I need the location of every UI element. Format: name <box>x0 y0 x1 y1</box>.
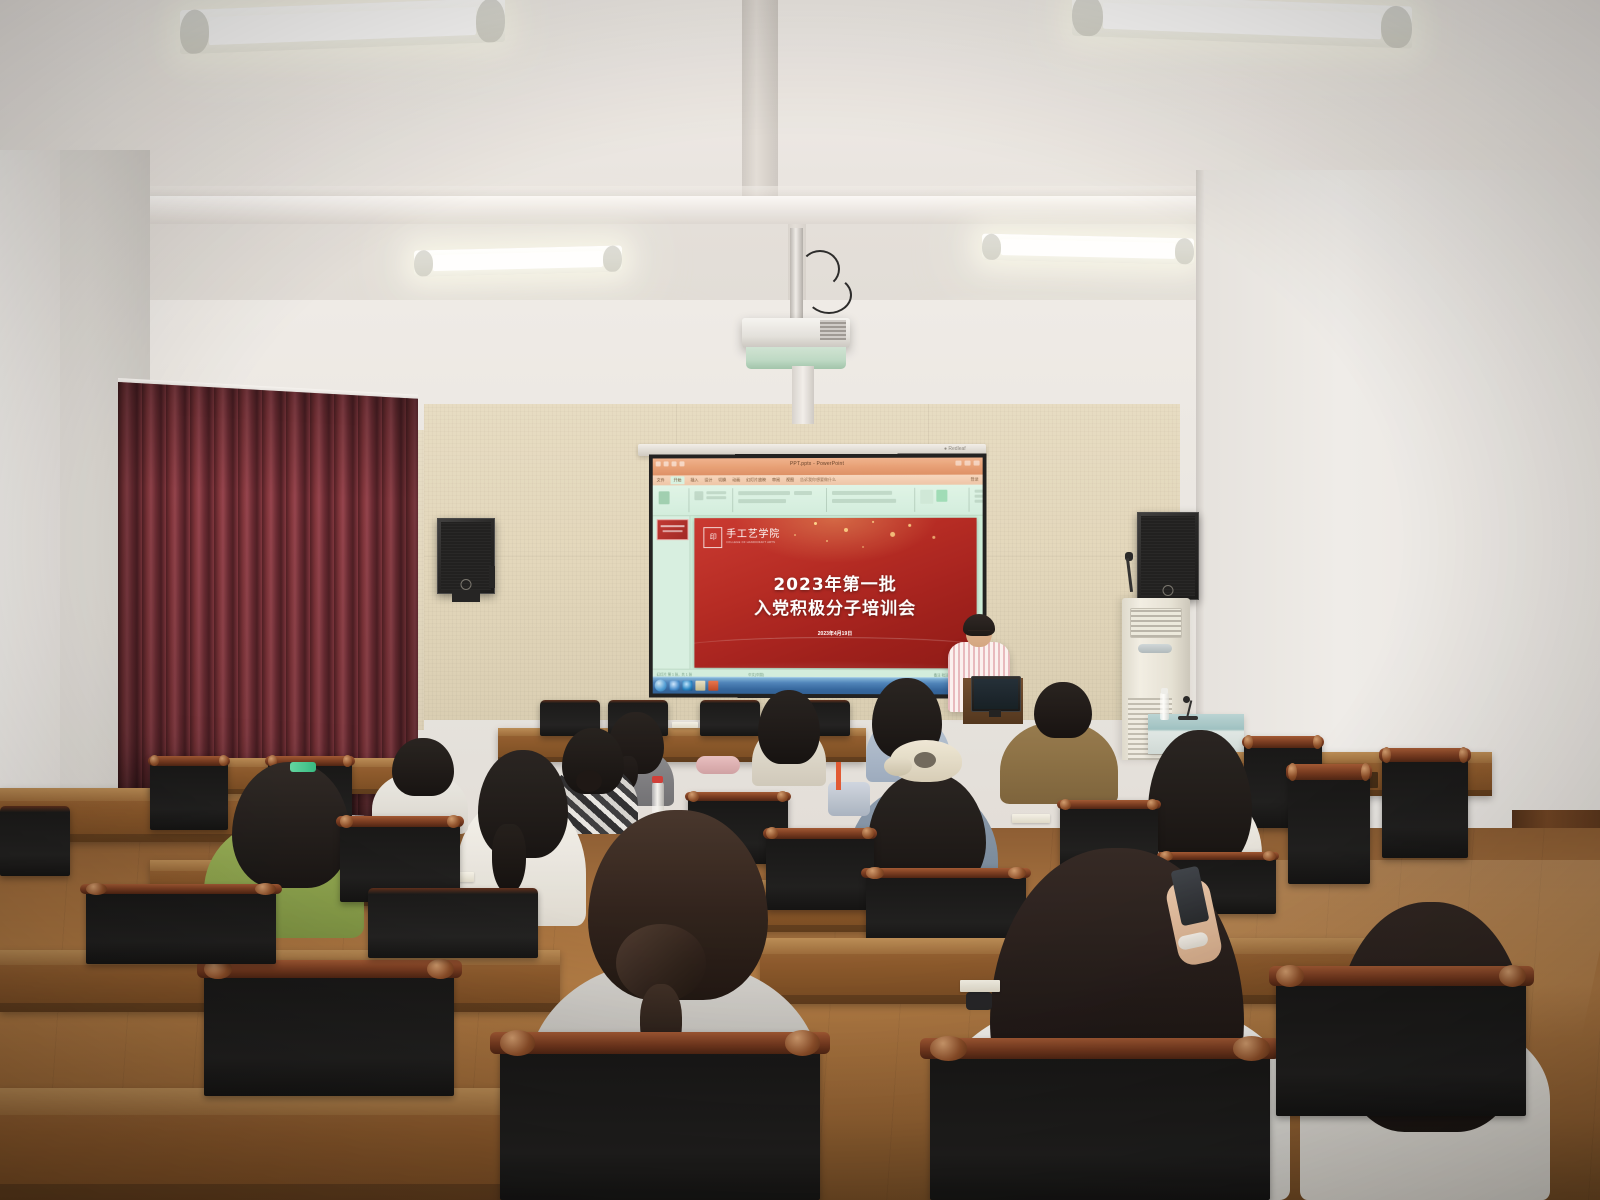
reset-icon[interactable] <box>706 496 726 499</box>
replace-item[interactable] <box>975 495 983 498</box>
slide-wave-line <box>694 637 976 665</box>
powerpoint-icon[interactable] <box>708 681 718 691</box>
microphone-head-icon <box>1183 696 1190 703</box>
font-size-box[interactable] <box>794 491 812 495</box>
find-item[interactable] <box>975 490 983 493</box>
water-bottle <box>1160 692 1169 720</box>
powerpoint-window-title: PPT.pptx - PowerPoint <box>790 461 844 467</box>
projected-desktop: PPT.pptx - PowerPoint 文件 开始 插入 设计 切换 动画 … <box>653 458 983 695</box>
tab-insert[interactable]: 插入 <box>690 477 698 483</box>
eyeglasses-icon <box>968 630 990 636</box>
account-label[interactable]: 登录 <box>971 477 979 483</box>
right-chair-2[interactable] <box>1382 748 1468 858</box>
tab-review[interactable]: 审阅 <box>772 477 780 483</box>
mid-chair-left-edge-2[interactable] <box>368 888 538 958</box>
front-chair-3[interactable] <box>700 700 760 736</box>
classroom-scene: ● Redleaf PPT.pptx - PowerPoint <box>0 0 1600 1200</box>
speaker-arm-left <box>489 566 495 588</box>
wall-speaker-left <box>437 518 495 594</box>
internet-explorer-icon[interactable] <box>682 681 692 691</box>
right-chair-3[interactable] <box>1288 764 1370 884</box>
status-slide-count: 幻灯片 第 1 张，共 1 张 <box>657 671 692 676</box>
maximize-icon[interactable] <box>965 461 971 466</box>
status-language: 中文(中国) <box>748 671 764 676</box>
select-item[interactable] <box>975 500 983 503</box>
paste-icon[interactable] <box>659 491 670 504</box>
pink-cushion <box>696 756 740 774</box>
bottle-cap-red-icon <box>652 776 663 783</box>
slide-canvas[interactable]: 印 手工艺学院 COLLEGE OF HANDICRAFT ARTS 2023年… <box>694 518 976 669</box>
bottle-cap <box>1161 688 1168 694</box>
ceiling-light-3 <box>414 245 622 276</box>
marker-pen <box>836 762 841 790</box>
tab-design[interactable]: 设计 <box>704 477 712 483</box>
tab-animations[interactable]: 动画 <box>732 477 740 483</box>
wall-speaker-right <box>1137 512 1199 600</box>
shape-fill-icon[interactable] <box>936 490 947 502</box>
ac-vent-icon <box>1130 608 1182 638</box>
font-name-box[interactable] <box>738 491 790 495</box>
tab-view[interactable]: 视图 <box>786 477 794 483</box>
close-icon[interactable] <box>974 461 980 466</box>
status-view-tools: 备注 批注 <box>934 672 949 677</box>
shapes-gallery-icon[interactable] <box>920 490 933 504</box>
ponytail <box>492 824 526 894</box>
foreground-chair-right[interactable] <box>930 1038 1270 1200</box>
green-hair-clip-icon <box>290 762 316 772</box>
college-seal-icon: 印 <box>703 527 722 548</box>
paper-mid-2 <box>1012 814 1050 823</box>
powerpoint-title-bar: PPT.pptx - PowerPoint <box>653 458 983 476</box>
start-button-icon[interactable] <box>655 680 667 692</box>
college-name-cn: 手工艺学院 <box>726 530 780 540</box>
cap-hole-icon <box>914 752 936 768</box>
screen-brand-label: ● Redleaf <box>944 446 966 452</box>
slide-thumbnail-pane[interactable] <box>654 516 691 677</box>
college-logo: 印 手工艺学院 COLLEGE OF HANDICRAFT ARTS <box>703 527 780 548</box>
projector-cable-2 <box>806 276 852 314</box>
projection-screen: PPT.pptx - PowerPoint 文件 开始 插入 设计 切换 动画 … <box>649 453 987 698</box>
paper-foreground <box>960 980 1000 992</box>
bullets-row[interactable] <box>832 491 892 495</box>
paper-front-1 <box>672 722 698 728</box>
browser-icon[interactable] <box>670 681 680 691</box>
tell-me-box[interactable]: 告诉我你想要做什么 <box>800 477 836 483</box>
folder-icon[interactable] <box>695 681 705 691</box>
mid-chair-3[interactable] <box>766 828 874 910</box>
save-icon[interactable] <box>656 461 661 466</box>
speaker-bracket-left <box>452 590 480 602</box>
projector-column <box>792 366 814 424</box>
college-name-en: COLLEGE OF HANDICRAFT ARTS <box>726 542 780 545</box>
cap-brim-icon <box>884 756 912 776</box>
font-style-row[interactable] <box>738 499 786 503</box>
window-curtain[interactable] <box>118 382 418 819</box>
left-chair-3[interactable] <box>0 806 70 876</box>
left-chair-1[interactable] <box>150 756 228 830</box>
held-device <box>966 992 992 1010</box>
minimize-icon[interactable] <box>955 461 961 466</box>
projector-vent-icon <box>820 320 846 340</box>
mid-chair-left-edge[interactable] <box>86 884 276 964</box>
ribbon-body[interactable] <box>653 485 983 517</box>
undo-icon[interactable] <box>664 461 669 466</box>
quick-access-toolbar[interactable] <box>656 461 685 466</box>
foreground-chair-center[interactable] <box>500 1032 820 1200</box>
ceiling-light-4 <box>982 234 1194 265</box>
backpack <box>828 782 870 816</box>
monitor-stand <box>989 710 1001 717</box>
tab-file[interactable]: 文件 <box>657 477 665 483</box>
slide-title-line1: 2023年第一批 <box>694 570 976 595</box>
windows-taskbar[interactable] <box>653 677 983 695</box>
start-slideshow-icon[interactable] <box>680 461 685 466</box>
ceiling-beam-vertical <box>742 0 778 200</box>
redo-icon[interactable] <box>672 461 677 466</box>
podium-monitor <box>971 676 1021 712</box>
window-controls[interactable] <box>955 461 979 466</box>
layout-icon[interactable] <box>706 491 726 494</box>
new-slide-icon[interactable] <box>694 491 703 500</box>
foreground-desk-front <box>0 1088 520 1200</box>
slide-title-line2: 入党积极分子培训会 <box>694 594 976 619</box>
slide-thumbnail-1[interactable] <box>657 519 689 540</box>
ac-badge <box>1138 644 1172 653</box>
foreground-chair-left[interactable] <box>204 960 454 1096</box>
tab-slideshow[interactable]: 幻灯片放映 <box>746 477 766 483</box>
mid-chair-4[interactable] <box>866 868 1026 944</box>
tab-transitions[interactable]: 切换 <box>718 477 726 483</box>
foreground-chair-far-right[interactable] <box>1276 966 1526 1116</box>
tab-home[interactable]: 开始 <box>671 476 685 484</box>
align-row[interactable] <box>832 499 896 503</box>
